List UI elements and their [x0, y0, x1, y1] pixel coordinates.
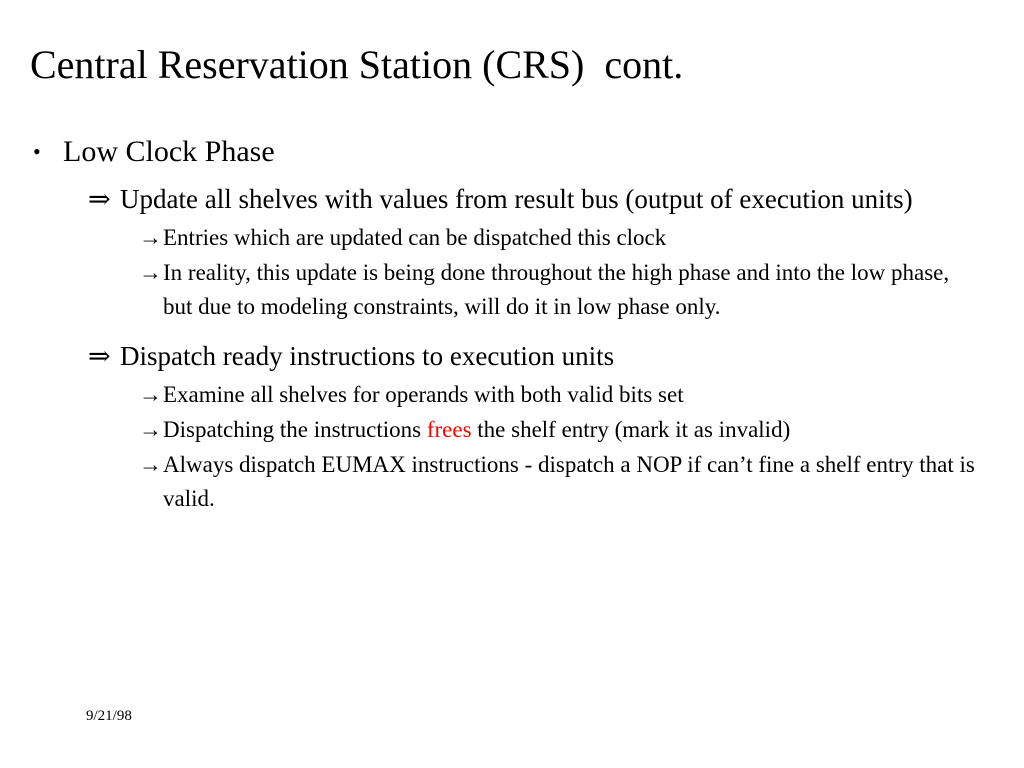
double-arrow-icon: ⇒ — [88, 336, 120, 376]
bullet-level2-label: Update all shelves with values from resu… — [120, 179, 930, 219]
arrow-right-icon: → — [139, 448, 163, 482]
bullet-level3-label: Entries which are updated can be dispatc… — [163, 221, 978, 255]
bullet-text-segment-pre: Dispatching the instructions — [163, 417, 427, 442]
double-arrow-icon: ⇒ — [88, 179, 120, 219]
bullet-level2-dispatch-ready: ⇒ Dispatch ready instructions to executi… — [0, 336, 1010, 376]
bullet-level3-in-reality: → In reality, this update is being done … — [0, 256, 1010, 324]
bullet-level3-label: In reality, this update is being done th… — [163, 256, 978, 324]
arrow-right-icon: → — [139, 256, 163, 290]
bullet-level1-label: Low Clock Phase — [63, 131, 1010, 173]
arrow-right-icon: → — [139, 221, 163, 255]
bullet-level3-label: Always dispatch EUMAX instructions - dis… — [163, 448, 978, 516]
presentation-slide: Central Reservation Station (CRS) cont. … — [0, 0, 1024, 768]
arrow-right-icon: → — [139, 413, 163, 447]
highlighted-word-frees: frees — [427, 417, 472, 442]
bullet-dot-icon: • — [33, 131, 63, 173]
bullet-level3-always-dispatch-eumax: → Always dispatch EUMAX instructions - d… — [0, 448, 1010, 516]
slide-footer-date: 9/21/98 — [86, 707, 132, 725]
bullet-level3-label: Examine all shelves for operands with bo… — [163, 378, 978, 412]
bullet-level2-label: Dispatch ready instructions to execution… — [120, 336, 930, 376]
bullet-level1-low-clock-phase: • Low Clock Phase — [0, 131, 1010, 173]
slide-body: • Low Clock Phase ⇒ Update all shelves w… — [0, 131, 1010, 517]
bullet-level3-entries-updated: → Entries which are updated can be dispa… — [0, 221, 1010, 255]
bullet-level3-examine-shelves: → Examine all shelves for operands with … — [0, 378, 1010, 412]
bullet-level2-update-shelves: ⇒ Update all shelves with values from re… — [0, 179, 1010, 219]
bullet-level3-dispatching-frees: → Dispatching the instructions frees the… — [0, 413, 1010, 447]
page-title: Central Reservation Station (CRS) cont. — [30, 40, 990, 90]
bullet-level3-label: Dispatching the instructions frees the s… — [163, 413, 978, 447]
bullet-text-segment-post: the shelf entry (mark it as invalid) — [472, 417, 791, 442]
arrow-right-icon: → — [139, 378, 163, 412]
